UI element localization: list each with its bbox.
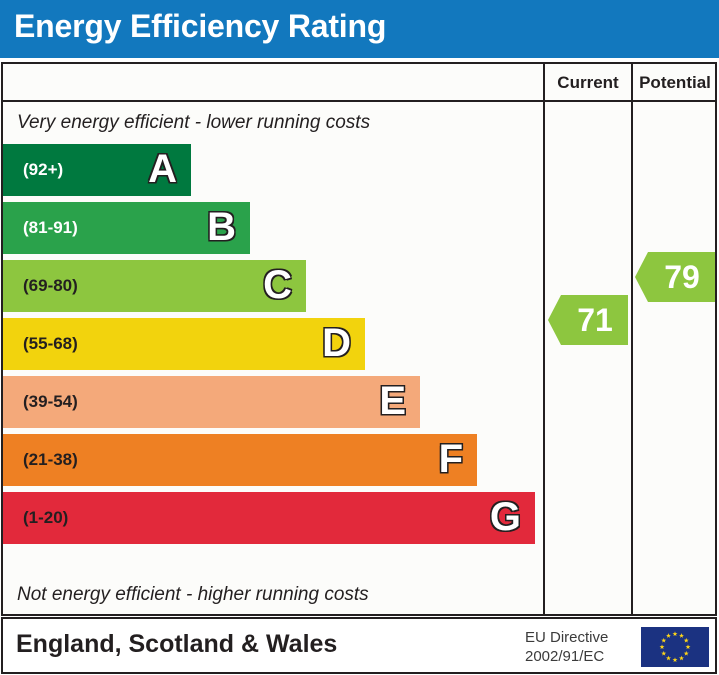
- band-row-f: (21-38) F: [3, 434, 477, 486]
- band-row-d: (55-68) D: [3, 318, 365, 370]
- band-row-e: (39-54) E: [3, 376, 420, 428]
- band-letter-b: B: [207, 202, 236, 254]
- band-range-f: (21-38): [23, 434, 78, 486]
- band-range-b: (81-91): [23, 202, 78, 254]
- band-range-c: (69-80): [23, 260, 78, 312]
- band-row-b: (81-91) B: [3, 202, 250, 254]
- efficiency-note-top: Very energy efficient - lower running co…: [17, 112, 370, 134]
- rating-table: Current Potential Very energy efficient …: [1, 62, 717, 616]
- footer-directive-line1: EU Directive: [525, 628, 608, 647]
- band-letter-g: G: [490, 492, 521, 544]
- band-letter-a: A: [148, 144, 177, 196]
- potential-rating-arrow: 79: [635, 252, 715, 302]
- band-letter-e: E: [379, 376, 406, 428]
- column-divider-current: [543, 64, 545, 614]
- footer-region-label: England, Scotland & Wales: [16, 630, 337, 659]
- page-title: Energy Efficiency Rating: [14, 8, 386, 45]
- band-letter-d: D: [322, 318, 351, 370]
- band-row-a: (92+) A: [3, 144, 191, 196]
- column-header-potential: Potential: [633, 70, 717, 96]
- band-list: (92+) A (81-91) B (69-80) C (55-68) D (3…: [3, 144, 541, 544]
- energy-efficiency-rating-certificate: Energy Efficiency Rating Current Potenti…: [0, 0, 719, 675]
- band-chart: Very energy efficient - lower running co…: [3, 102, 541, 614]
- column-divider-potential: [631, 64, 633, 614]
- band-letter-c: C: [263, 260, 292, 312]
- footer-bar: England, Scotland & Wales EU Directive 2…: [1, 617, 717, 674]
- band-range-g: (1-20): [23, 492, 68, 544]
- eu-flag-icon: [641, 627, 709, 667]
- footer-directive-line2: 2002/91/EC: [525, 647, 608, 666]
- band-range-d: (55-68): [23, 318, 78, 370]
- title-bar: Energy Efficiency Rating: [0, 0, 719, 58]
- band-letter-f: F: [439, 434, 463, 486]
- band-range-a: (92+): [23, 144, 63, 196]
- column-header-current: Current: [545, 70, 631, 96]
- current-rating-arrow: 71: [548, 295, 628, 345]
- band-row-g: (1-20) G: [3, 492, 535, 544]
- footer-directive: EU Directive 2002/91/EC: [525, 628, 608, 666]
- band-row-c: (69-80) C: [3, 260, 306, 312]
- efficiency-note-bottom: Not energy efficient - higher running co…: [17, 584, 369, 606]
- band-range-e: (39-54): [23, 376, 78, 428]
